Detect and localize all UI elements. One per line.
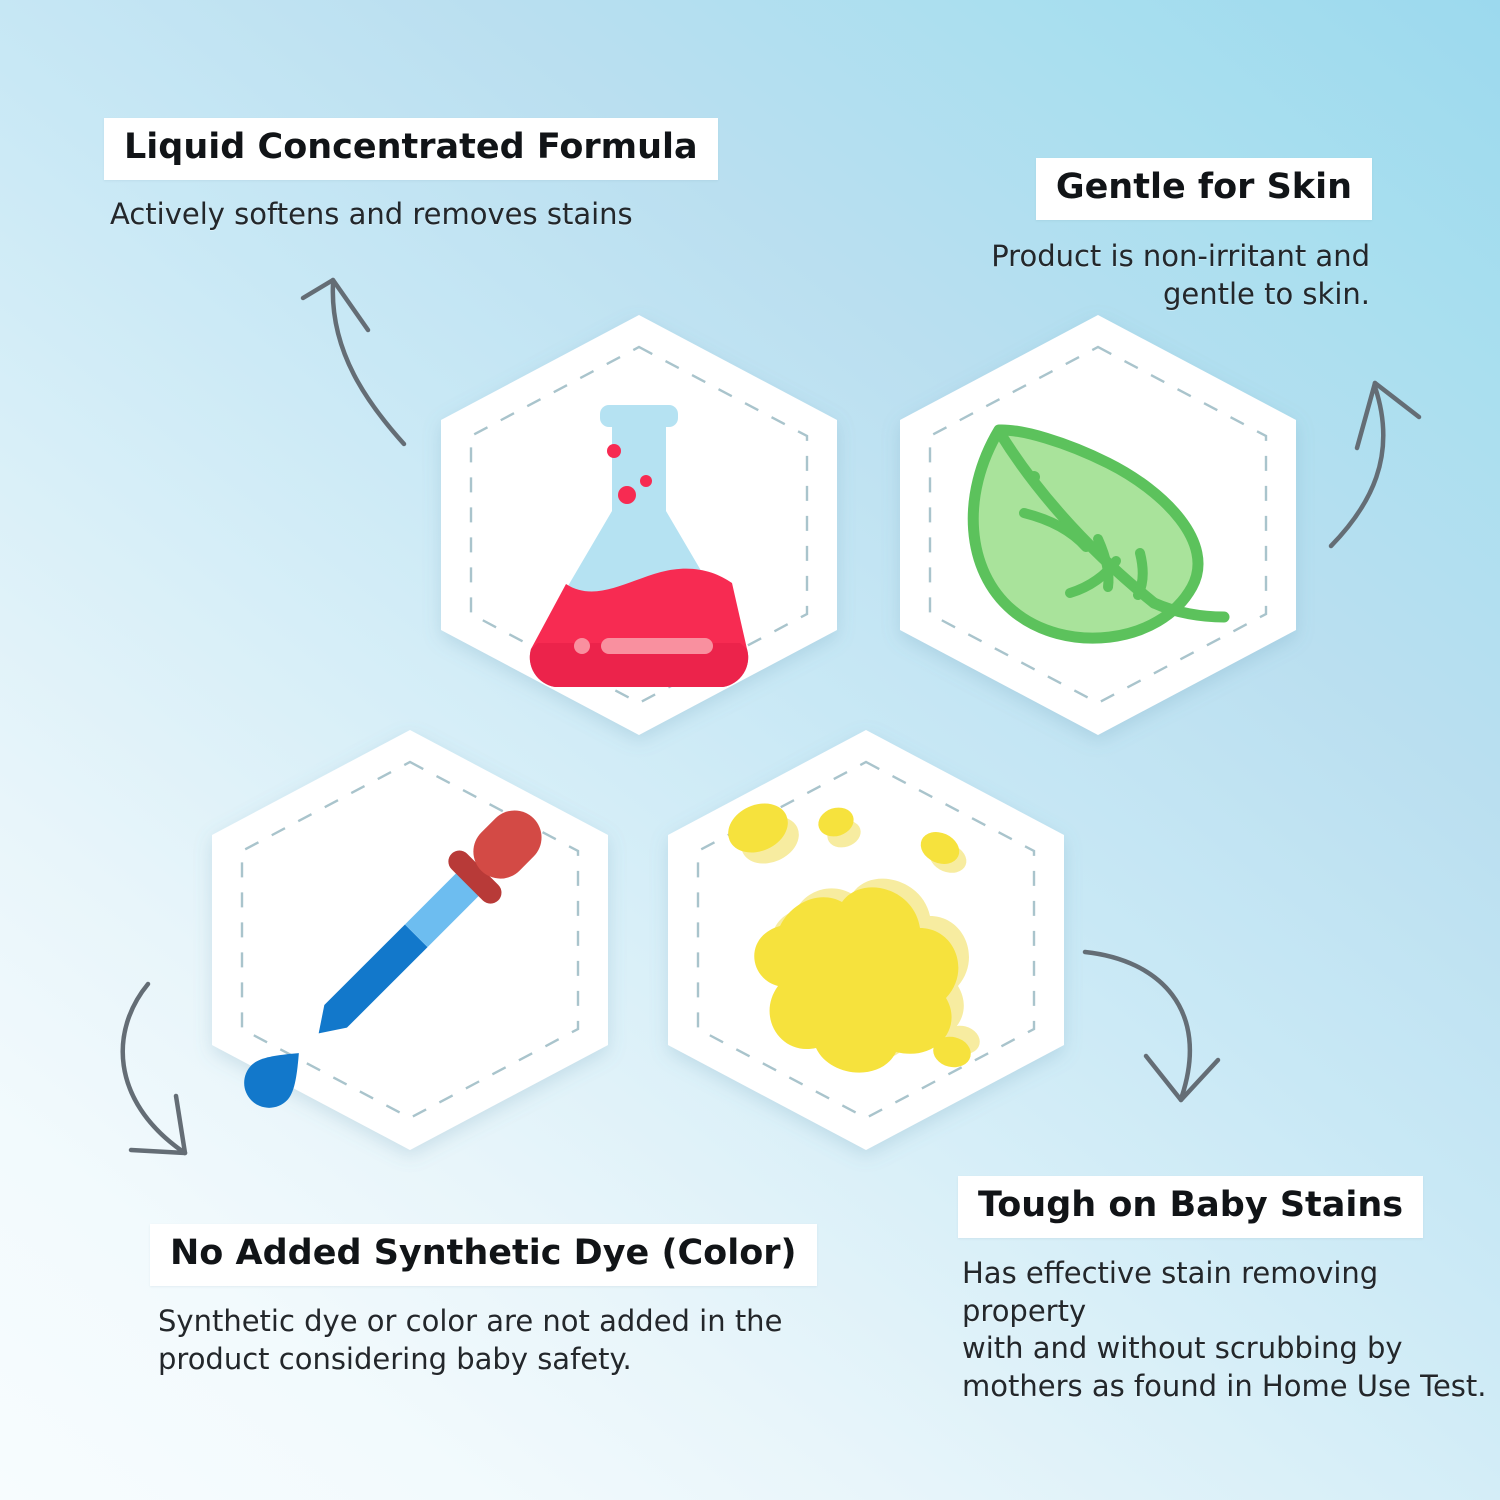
callout-title: Liquid Concentrated Formula	[104, 118, 718, 180]
callout-gentle-for-skin: Gentle for Skin Product is non-irritant …	[991, 158, 1372, 313]
callout-liquid-concentrated-formula: Liquid Concentrated Formula Actively sof…	[104, 118, 718, 234]
hexagon-card-gentle	[900, 315, 1296, 735]
hexagon-card-tough	[668, 730, 1064, 1150]
callout-description: Actively softens and removes stains	[110, 196, 718, 234]
callout-no-added-synthetic-dye: No Added Synthetic Dye (Color) Synthetic…	[150, 1224, 817, 1378]
callout-title: Tough on Baby Stains	[958, 1176, 1423, 1238]
callout-title: Gentle for Skin	[1036, 158, 1372, 220]
callout-description: Product is non-irritant and gentle to sk…	[991, 238, 1370, 313]
hexagon-card-dye	[212, 730, 608, 1150]
infographic-canvas: Liquid Concentrated Formula Actively sof…	[0, 0, 1500, 1500]
callout-description: Has effective stain removing property wi…	[962, 1255, 1500, 1406]
callout-description: Synthetic dye or color are not added in …	[158, 1303, 817, 1378]
callout-title: No Added Synthetic Dye (Color)	[150, 1224, 817, 1286]
callout-tough-on-baby-stains: Tough on Baby Stains Has effective stain…	[958, 1176, 1500, 1406]
hexagon-card-liquid	[441, 315, 837, 735]
